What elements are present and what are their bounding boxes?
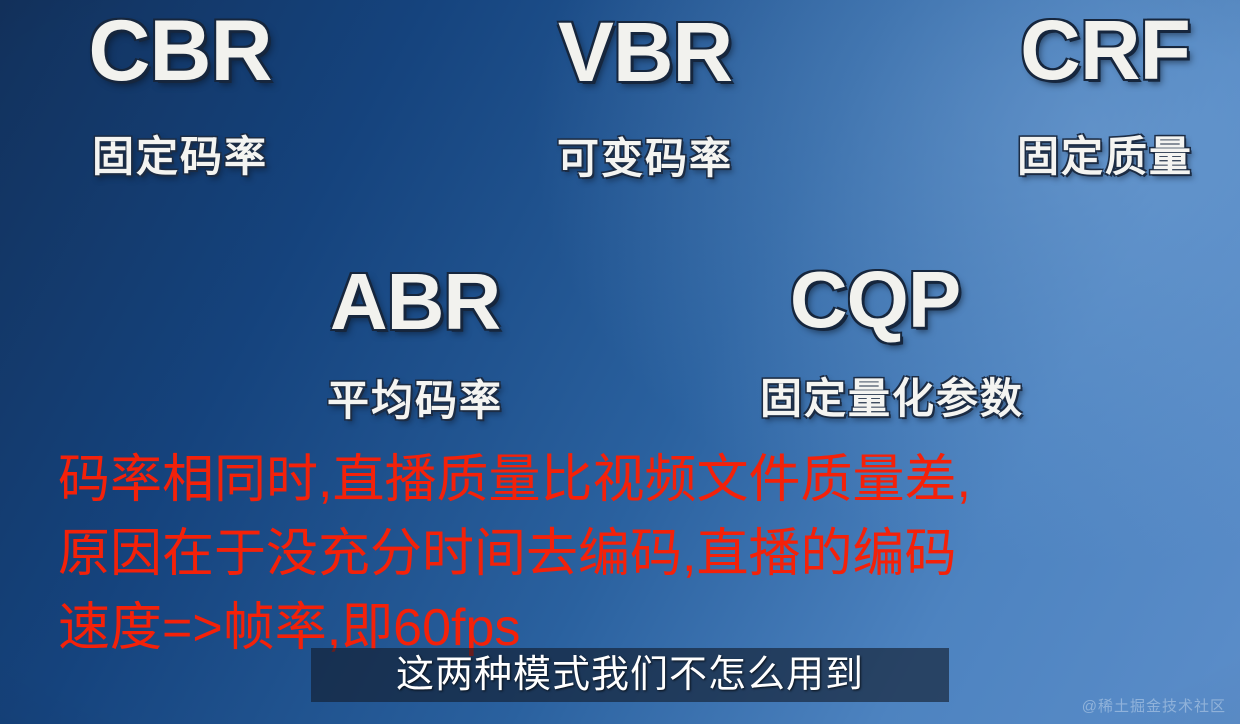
video-frame: CBR 固定码率 VBR 可变码率 CRF 固定质量 ABR 平均码率 CQP … [0,0,1240,724]
annotation-line-1: 码率相同时,直播质量比视频文件质量差, [58,444,1218,518]
mode-card-cbr: CBR 固定码率 [60,8,300,178]
subtitle-text: 这两种模式我们不怎么用到 [396,656,864,694]
mode-card-vbr: VBR 可变码率 [520,10,770,180]
mode-label-crf: 固定质量 [985,136,1225,178]
mode-label-abr: 平均码率 [300,380,530,422]
mode-label-vbr: 可变码率 [520,138,770,180]
mode-card-cqp: CQP 固定量化参数 [760,260,990,420]
mode-acronym-vbr: VBR [520,10,770,94]
annotation-line-2: 原因在于没充分时间去编码,直播的编码 [58,518,1218,592]
subtitle-bar: 这两种模式我们不怎么用到 [311,648,949,702]
mode-card-crf: CRF 固定质量 [985,8,1225,178]
watermark: @稀土掘金技术社区 [1082,695,1226,716]
mode-acronym-abr: ABR [300,262,530,342]
mode-acronym-cqp: CQP [760,260,990,340]
mode-acronym-cbr: CBR [60,8,300,94]
red-annotation-overlay: 码率相同时,直播质量比视频文件质量差, 原因在于没充分时间去编码,直播的编码 速… [58,444,1218,665]
mode-acronym-crf: CRF [985,8,1225,92]
mode-label-cqp: 固定量化参数 [760,378,990,420]
mode-card-abr: ABR 平均码率 [300,262,530,422]
mode-label-cbr: 固定码率 [60,136,300,178]
